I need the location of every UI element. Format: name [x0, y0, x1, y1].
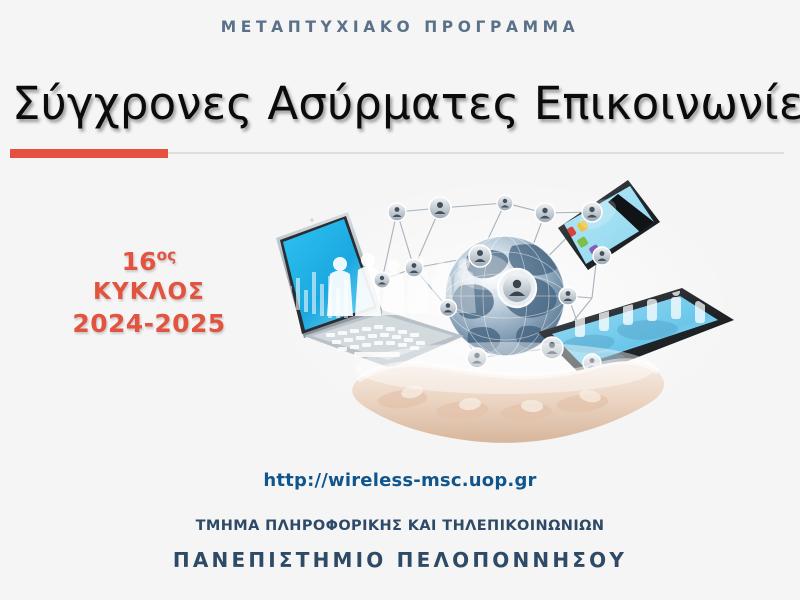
cycle-number-line: 16ος: [38, 246, 260, 278]
divider-accent-bar: [10, 149, 168, 158]
department-name: ΤΜΗΜΑ ΠΛΗΡΟΦΟΡΙΚΗΣ ΚΑΙ ΤΗΛΕΠΙΚΟΙΝΩΝΙΩΝ: [0, 518, 800, 534]
network-node: [429, 197, 451, 219]
network-node: [582, 202, 602, 222]
cycle-word: ΚΥΚΛΟΣ: [38, 278, 260, 308]
network-node: [559, 287, 577, 305]
page-title: Σύγχρονες Ασύρματες Επικοινωνίες: [12, 80, 788, 127]
network-node: [469, 245, 491, 267]
technology-collage-image: [262, 168, 748, 456]
cycle-ordinal-suffix: ος: [156, 247, 176, 265]
cycle-years: 2024-2025: [38, 307, 260, 342]
network-node-center: [498, 269, 536, 307]
network-node: [405, 259, 423, 277]
network-node: [535, 203, 555, 223]
title-divider: [10, 149, 784, 158]
collage-svg: [262, 168, 748, 456]
poster-canvas: ΜΕΤΑΠΤΥΧΙΑΚΟ ΠΡΟΓΡΑΜΜΑ Σύγχρονες Ασύρματ…: [0, 0, 800, 600]
network-node: [440, 300, 457, 317]
program-website-link[interactable]: http://wireless-msc.uop.gr: [0, 470, 800, 491]
network-node: [593, 247, 611, 265]
university-name: ΠΑΝΕΠΙΣΤΗΜΙΟ ΠΕΛΟΠΟΝΝΗΣΟΥ: [0, 548, 800, 572]
network-node: [388, 203, 406, 221]
network-node: [497, 195, 513, 211]
program-eyebrow: ΜΕΤΑΠΤΥΧΙΑΚΟ ΠΡΟΓΡΑΜΜΑ: [0, 18, 800, 36]
cycle-number: 16: [122, 247, 157, 276]
network-node: [374, 272, 390, 288]
hands-graphic: [352, 342, 664, 443]
cycle-info-block: 16ος ΚΥΚΛΟΣ 2024-2025: [38, 246, 260, 342]
